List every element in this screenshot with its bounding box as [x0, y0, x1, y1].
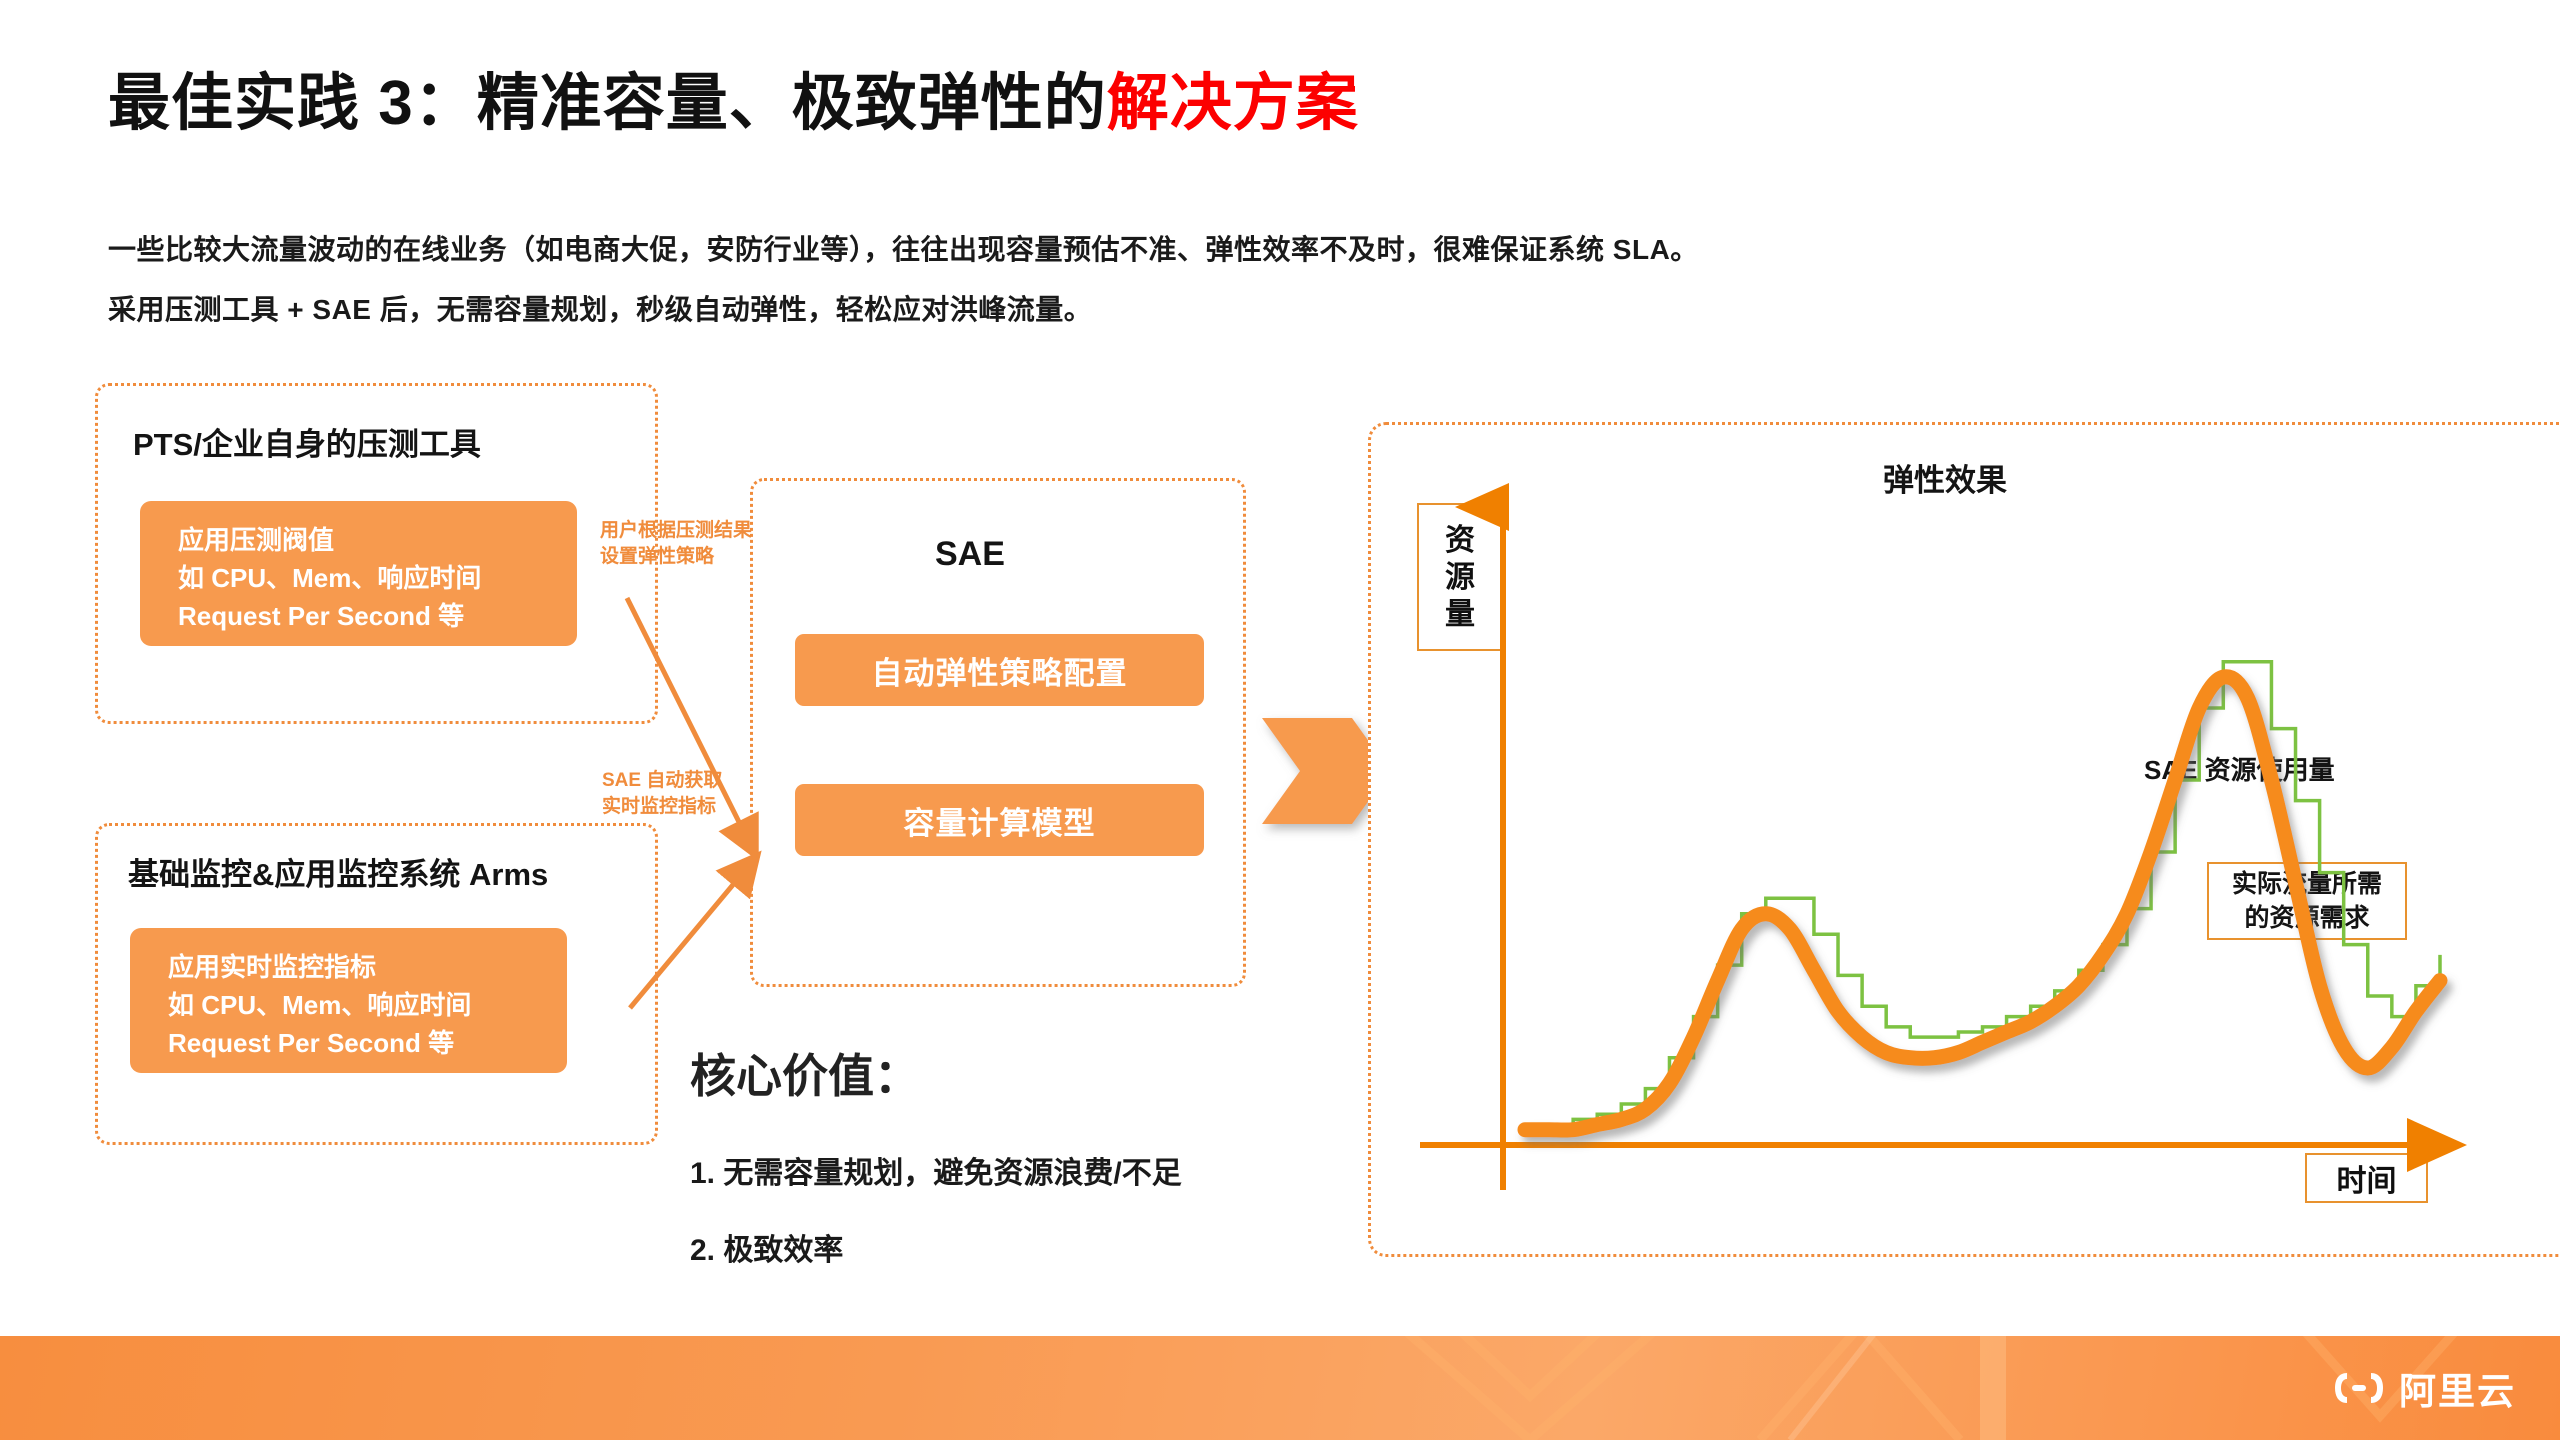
chart-y-axis-label: 资 源 量: [1417, 503, 1503, 651]
alibaba-cloud-bracket-icon: [2333, 1371, 2385, 1405]
chart-legend-sae-usage: SAE 资源使用量: [2144, 750, 2335, 787]
intro-line-2: 采用压测工具 + SAE 后，无需容量规划，秒级自动弹性，轻松应对洪峰流量。: [108, 288, 1092, 328]
arms-metrics-line-2: 如 CPU、Mem、响应时间: [168, 986, 567, 1024]
annotation-sae-fetch-line-2: 实时监控指标: [602, 794, 722, 820]
y-axis-char-3: 量: [1445, 596, 1475, 633]
core-value-heading: 核心价值：: [690, 1040, 920, 1106]
sae-capsule-capacity-model: 容量计算模型: [795, 784, 1204, 856]
core-value-item-2: 2. 极致效率: [690, 1225, 843, 1269]
y-axis-char-2: 源: [1445, 559, 1475, 596]
footer-logo: 阿里云: [2333, 1361, 2516, 1415]
annotation-user-policy-line-1: 用户根据压测结果: [600, 518, 752, 544]
panel-arms-heading: 基础监控&应用监控系统 Arms: [128, 849, 548, 894]
page-title-main: 最佳实践 3：精准容量、极致弹性的: [108, 69, 1107, 138]
page-title-accent: 解决方案: [1107, 69, 1359, 138]
sae-capsule-auto-policy: 自动弹性策略配置: [795, 634, 1204, 706]
pts-metrics-line-1: 应用压测阀值: [178, 521, 577, 559]
chart-x-axis-label: 时间: [2305, 1153, 2428, 1203]
annotation-user-policy: 用户根据压测结果 设置弹性策略: [600, 518, 752, 570]
footer-brand-text: 阿里云: [2399, 1361, 2516, 1415]
legend-demand-line-2: 的资源需求: [2244, 901, 2369, 935]
annotation-user-policy-line-2: 设置弹性策略: [600, 544, 752, 570]
legend-demand-line-1: 实际流量所需: [2232, 867, 2382, 901]
core-value-item-1: 1. 无需容量规划，避免资源浪费/不足: [690, 1148, 1182, 1192]
pts-metrics-line-3: Request Per Second 等: [178, 597, 577, 635]
intro-line-1: 一些比较大流量波动的在线业务（如电商大促，安防行业等），往往出现容量预估不准、弹…: [108, 228, 1699, 268]
chart-title: 弹性效果: [1883, 455, 2007, 500]
annotation-sae-fetch: SAE 自动获取 实时监控指标: [602, 768, 722, 820]
y-axis-char-1: 资: [1445, 522, 1475, 559]
pts-metrics-line-2: 如 CPU、Mem、响应时间: [178, 559, 577, 597]
pts-metrics-box: 应用压测阀值 如 CPU、Mem、响应时间 Request Per Second…: [140, 501, 577, 646]
panel-chart: [1368, 422, 2560, 1257]
chart-legend-actual-demand: 实际流量所需的资源需求: [2207, 862, 2407, 940]
page-title: 最佳实践 3：精准容量、极致弹性的解决方案: [108, 52, 1359, 142]
panel-pts-heading: PTS/企业自身的压测工具: [133, 419, 481, 464]
footer-band: 阿里云: [0, 1336, 2560, 1440]
arms-metrics-box: 应用实时监控指标 如 CPU、Mem、响应时间 Request Per Seco…: [130, 928, 567, 1073]
slide-canvas: 最佳实践 3：精准容量、极致弹性的解决方案 一些比较大流量波动的在线业务（如电商…: [0, 0, 2560, 1440]
arms-metrics-line-1: 应用实时监控指标: [168, 948, 567, 986]
annotation-sae-fetch-line-1: SAE 自动获取: [602, 768, 722, 794]
arms-metrics-line-3: Request Per Second 等: [168, 1024, 567, 1062]
footer-chevron-pattern: [0, 1336, 2560, 1440]
panel-sae-heading: SAE: [935, 535, 1005, 574]
